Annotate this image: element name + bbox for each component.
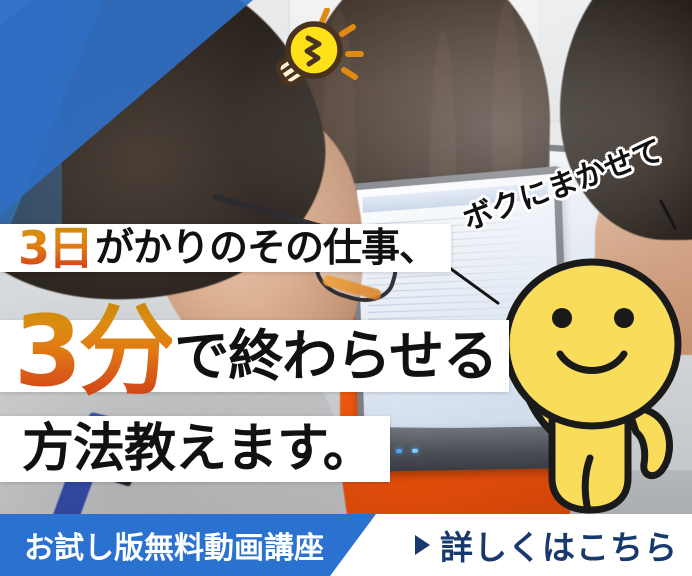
- ad-banner: ボクにまかせて 3日 がかりのその仕事、: [0, 0, 692, 576]
- cta-right-label[interactable]: 詳しくはこちら: [440, 521, 678, 569]
- headline-band-3: 方法教えます。: [0, 416, 390, 482]
- headline-accent-1: 3日: [18, 225, 92, 271]
- mascot-character: [488, 246, 692, 518]
- headline-text-3: 方法教えます。: [22, 423, 374, 475]
- cta-bar[interactable]: お試し版無料動画講座 詳しくはこちら: [0, 514, 692, 576]
- headline-text-2: で終わらせる: [174, 329, 497, 384]
- idea-lightbulb-icon: [258, 8, 368, 92]
- headline-band-1: 3日 がかりのその仕事、: [0, 224, 451, 272]
- headline-band-2: 3分 で終わらせる: [0, 320, 509, 392]
- cta-left-label[interactable]: お試し版無料動画講座: [24, 514, 324, 576]
- cta-right-link[interactable]: 詳しくはこちら: [415, 514, 678, 576]
- blue-corner-wedge: [0, 0, 300, 250]
- play-triangle-icon: [415, 535, 430, 555]
- headline-text-1: がかりのその仕事、: [95, 229, 437, 268]
- headline-accent-2: 3分: [14, 303, 172, 401]
